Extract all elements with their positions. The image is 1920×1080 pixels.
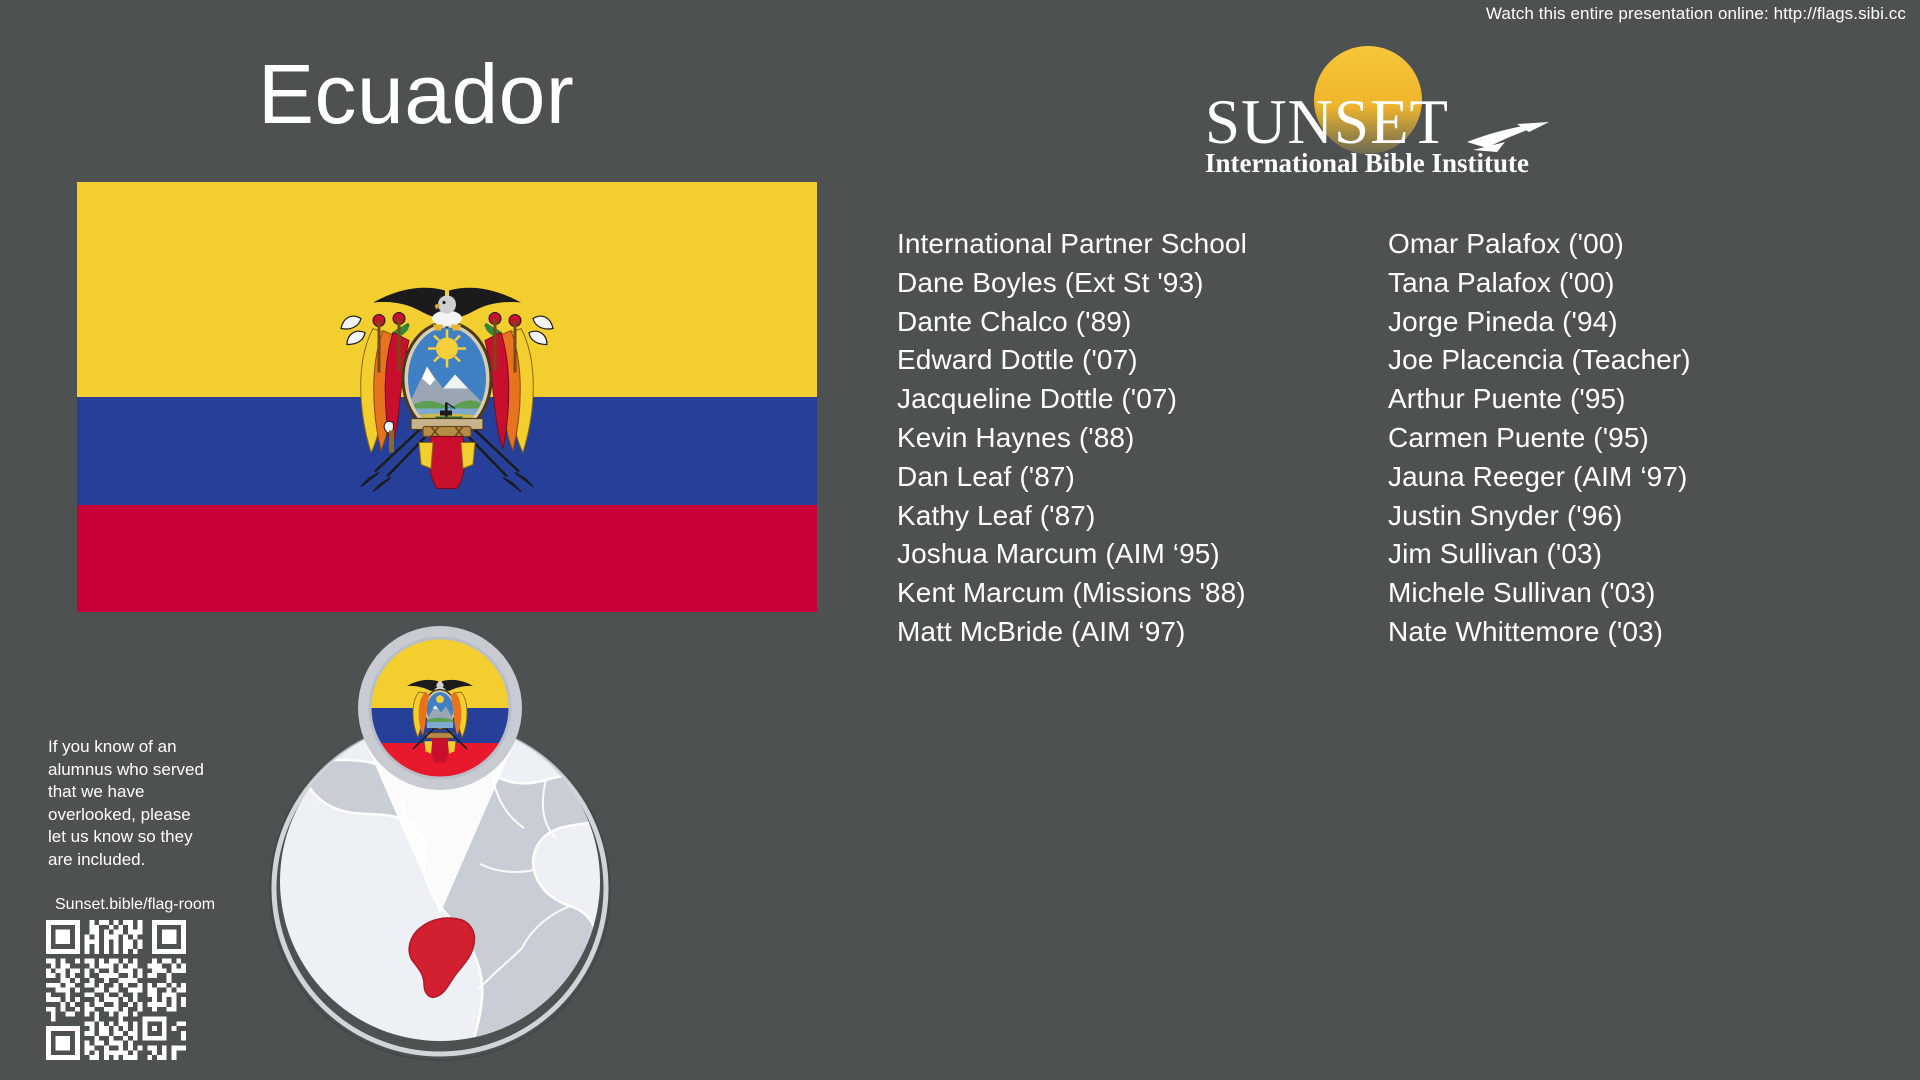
list-item: Jim Sullivan ('03) xyxy=(1388,535,1868,574)
list-item: Arthur Puente ('95) xyxy=(1388,380,1868,419)
logo-subtitle: International Bible Institute xyxy=(1205,148,1529,178)
list-item: Edward Dottle ('07) xyxy=(897,341,1377,380)
list-item: Kathy Leaf ('87) xyxy=(897,497,1377,536)
globe-graphic xyxy=(240,618,640,1062)
list-item: Dan Leaf ('87) xyxy=(897,458,1377,497)
list-item: Carmen Puente ('95) xyxy=(1388,419,1868,458)
list-item: Dante Chalco ('89) xyxy=(897,303,1377,342)
list-item: International Partner School xyxy=(897,225,1377,264)
coat-of-arms-icon xyxy=(327,267,567,502)
flag-of-ecuador xyxy=(77,182,817,612)
sunset-logo: SUNSET International Bible Institute xyxy=(1205,38,1575,178)
watch-online-line: Watch this entire presentation online: h… xyxy=(1486,4,1906,24)
flag-band-red xyxy=(77,505,817,613)
slide-root: Watch this entire presentation online: h… xyxy=(0,0,1920,1080)
alumni-notice-text: If you know of an alumnus who served tha… xyxy=(48,736,208,871)
list-item: Kent Marcum (Missions '88) xyxy=(897,574,1377,613)
alumni-list-left: International Partner School Dane Boyles… xyxy=(897,225,1377,652)
list-item: Jorge Pineda ('94) xyxy=(1388,303,1868,342)
flag-room-link[interactable]: Sunset.bible/flag-room xyxy=(55,896,215,914)
list-item: Dane Boyles (Ext St '93) xyxy=(897,264,1377,303)
list-item: Tana Palafox ('00) xyxy=(1388,264,1868,303)
map-pin-ecuador-flag xyxy=(358,626,522,790)
list-item: Jauna Reeger (AIM ‘97) xyxy=(1388,458,1868,497)
list-item: Michele Sullivan ('03) xyxy=(1388,574,1868,613)
page-title: Ecuador xyxy=(258,52,574,136)
list-item: Kevin Haynes ('88) xyxy=(897,419,1377,458)
list-item: Nate Whittemore ('03) xyxy=(1388,613,1868,652)
list-item: Omar Palafox ('00) xyxy=(1388,225,1868,264)
logo-wordmark: SUNSET xyxy=(1205,87,1449,157)
list-item: Matt McBride (AIM ‘97) xyxy=(897,613,1377,652)
alumni-list-right: Omar Palafox ('00) Tana Palafox ('00) Jo… xyxy=(1388,225,1868,652)
qr-code[interactable] xyxy=(46,920,186,1060)
list-item: Joshua Marcum (AIM ‘95) xyxy=(897,535,1377,574)
list-item: Joe Placencia (Teacher) xyxy=(1388,341,1868,380)
list-item: Jacqueline Dottle ('07) xyxy=(897,380,1377,419)
list-item: Justin Snyder ('96) xyxy=(1388,497,1868,536)
